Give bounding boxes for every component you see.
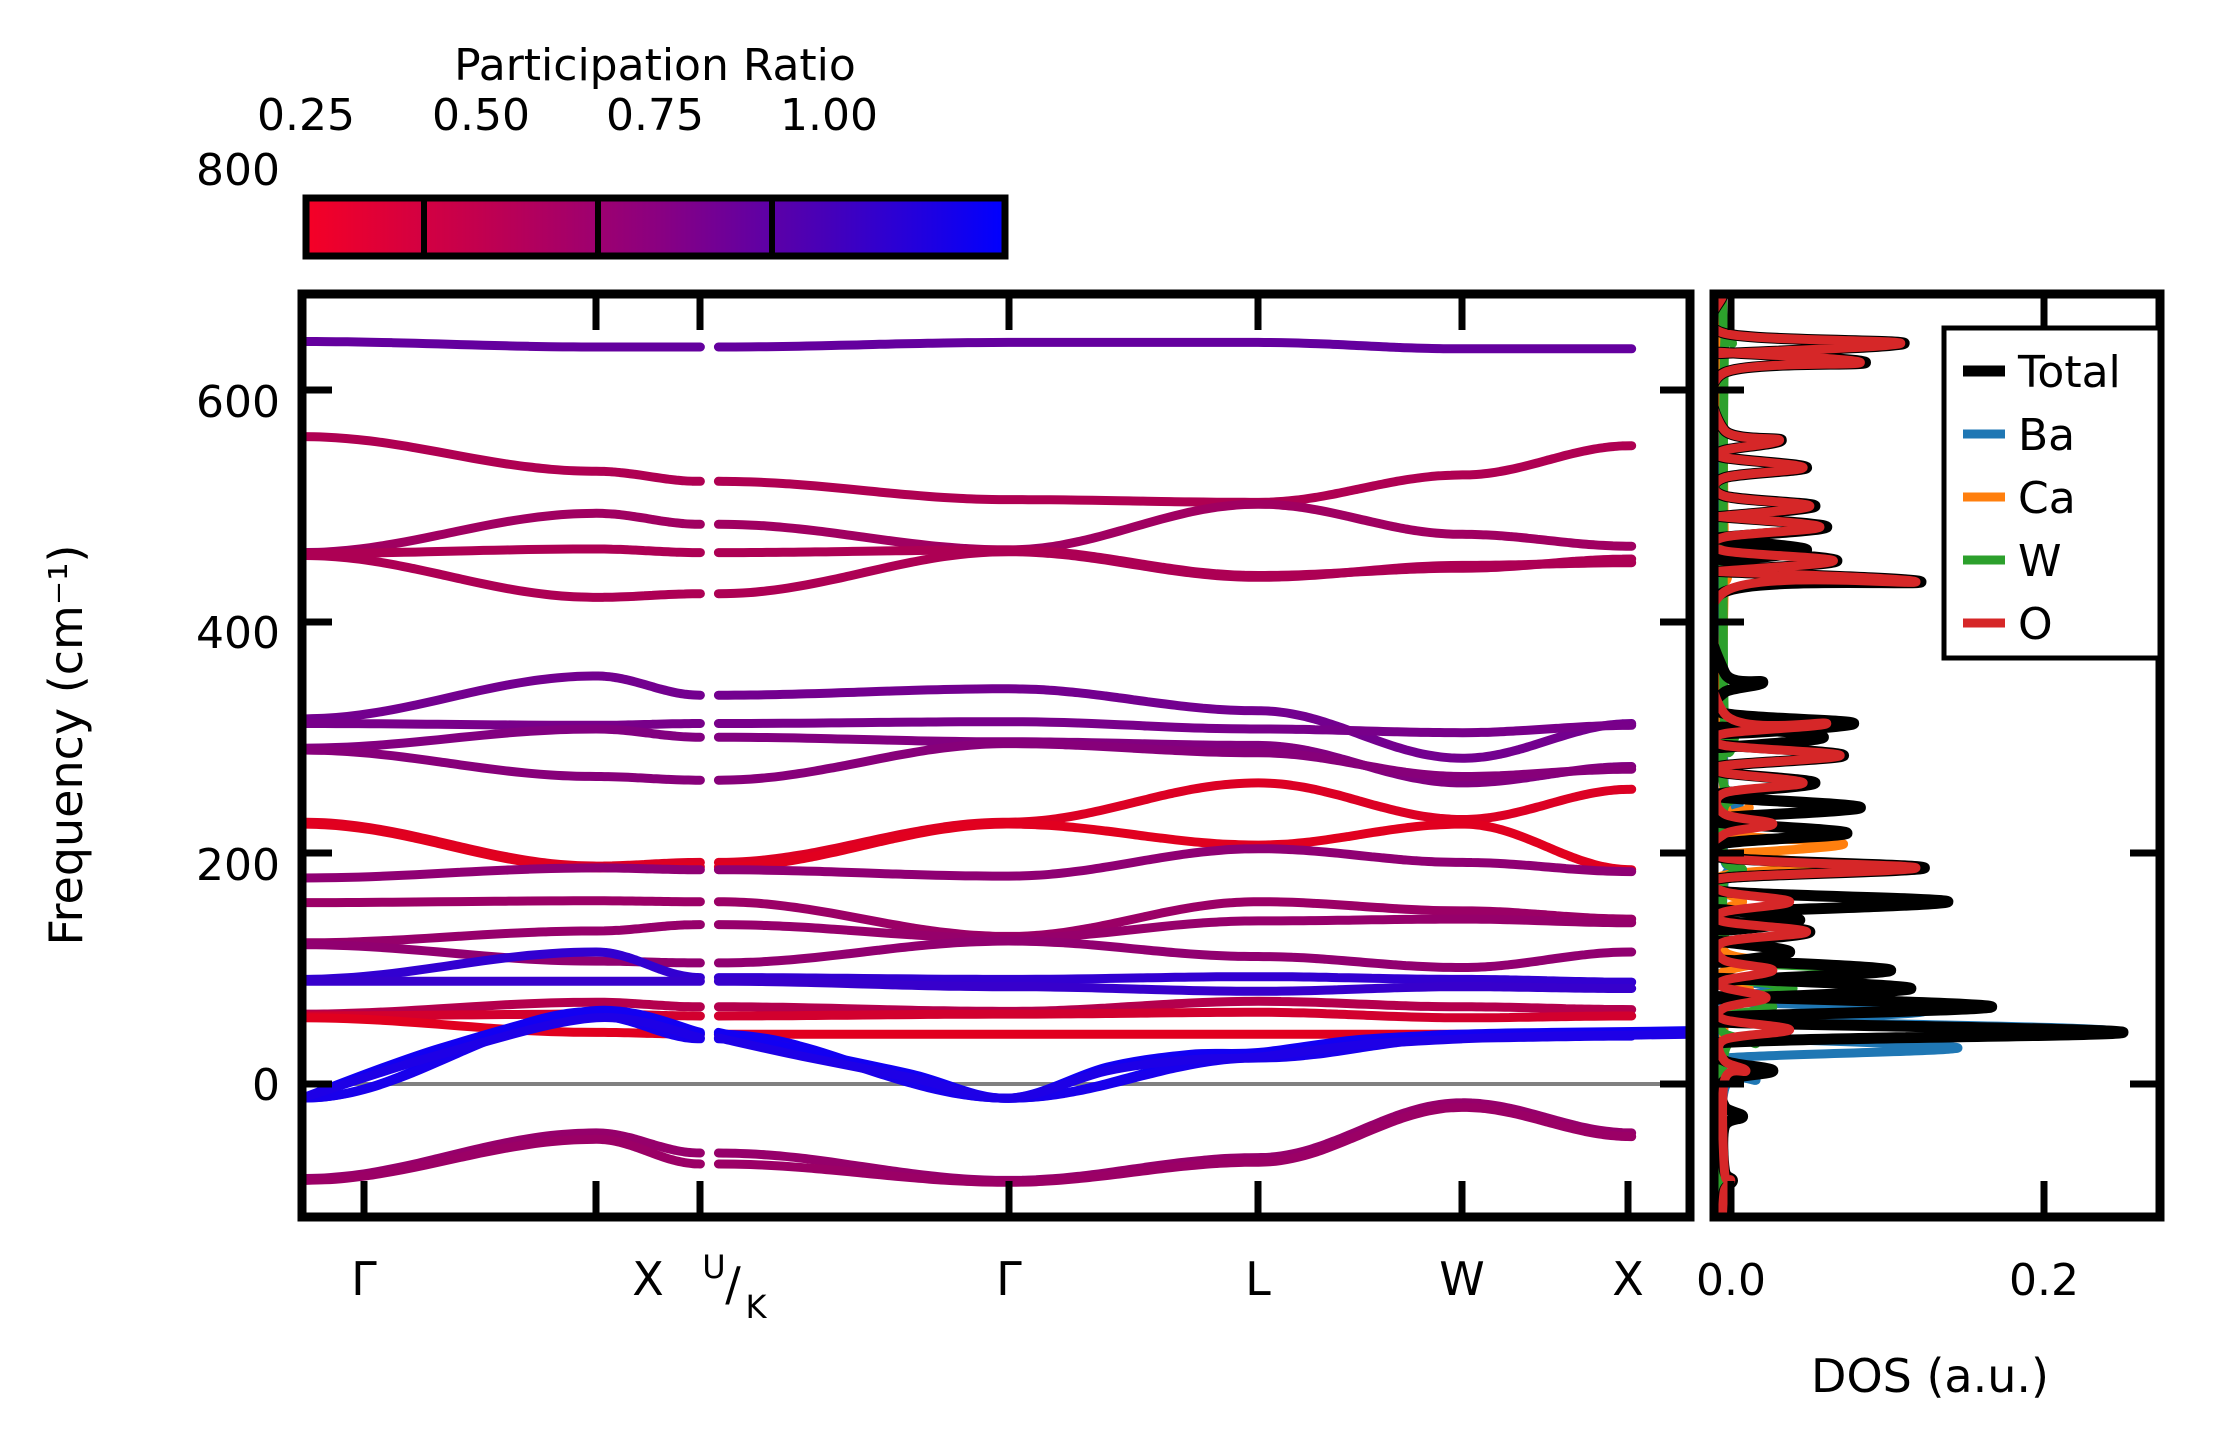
y-tick-600: 600 [196, 377, 280, 428]
plot-area: Frequency (cm⁻¹) 0 200 400 600 800 [0, 0, 2222, 1455]
figure-root: Participation Ratio 0.25 0.50 0.75 1.00 … [0, 0, 2222, 1455]
y-tick-0: 0 [252, 1060, 280, 1111]
hs-label-u-over-k: U / K [702, 1248, 767, 1326]
band-branch-segment [718, 849, 1631, 876]
y-tick-200: 200 [196, 840, 280, 891]
band-branch-segment [718, 744, 1631, 781]
band-branch-segment [302, 901, 700, 903]
band-branch-segment [302, 1133, 700, 1179]
band-branch-segment [302, 750, 700, 780]
y-axis-label-text: Frequency (cm⁻¹) [39, 545, 93, 946]
band-branch-segment [718, 1012, 1631, 1018]
band-curves-group [302, 342, 1690, 1183]
hs-label-x-1: X [632, 1252, 664, 1306]
band-branch-segment [718, 552, 1631, 594]
band-branch-segment [302, 868, 700, 878]
band-branch-segment [302, 676, 700, 719]
dos-x-tick-1: 0.2 [2009, 1255, 2079, 1306]
hs-label-x-2: X [1612, 1252, 1644, 1306]
band-branch-segment [302, 729, 700, 748]
hs-label-gamma-2: Γ [996, 1252, 1022, 1306]
legend-label-ba: Ba [2018, 410, 2075, 461]
band-branch-segment [302, 342, 700, 348]
band-branch-segment [302, 925, 700, 943]
band-branch-segment [718, 981, 1631, 991]
band-branch-segment [302, 555, 700, 597]
hs-label-gamma-1: Γ [351, 1252, 377, 1306]
band-branch-segment [718, 504, 1631, 550]
band-branch-segment [718, 941, 1631, 968]
y-tick-400: 400 [196, 608, 280, 659]
hs-label-u: U [702, 1248, 725, 1286]
hs-label-l: L [1245, 1252, 1271, 1306]
legend-label-o: O [2018, 599, 2053, 650]
legend-label-ca: Ca [2018, 473, 2076, 524]
band-branch-segment [302, 437, 700, 482]
legend-label-total: Total [2017, 347, 2121, 398]
legend-label-w: W [2018, 536, 2062, 587]
dos-x-tick-0: 0.0 [1696, 1255, 1766, 1306]
y-axis-label: Frequency (cm⁻¹) [39, 545, 93, 946]
dos-legend: Total Ba Ca W O [1944, 328, 2160, 658]
y-tick-800: 800 [196, 145, 280, 196]
band-branch-segment [302, 724, 700, 726]
band-branch-segment [718, 446, 1631, 503]
hs-label-slash: / [725, 1257, 741, 1311]
band-branch-segment [302, 549, 700, 554]
dos-x-axis-label: DOS (a.u.) [1811, 1349, 2049, 1403]
band-branch-segment [718, 722, 1631, 733]
hs-label-w: W [1439, 1252, 1484, 1306]
hs-label-k: K [746, 1288, 768, 1326]
band-branch-segment [718, 1107, 1631, 1182]
band-branch-segment [302, 1139, 700, 1180]
band-branch-segment [718, 342, 1631, 348]
band-branch-segment [302, 952, 700, 979]
